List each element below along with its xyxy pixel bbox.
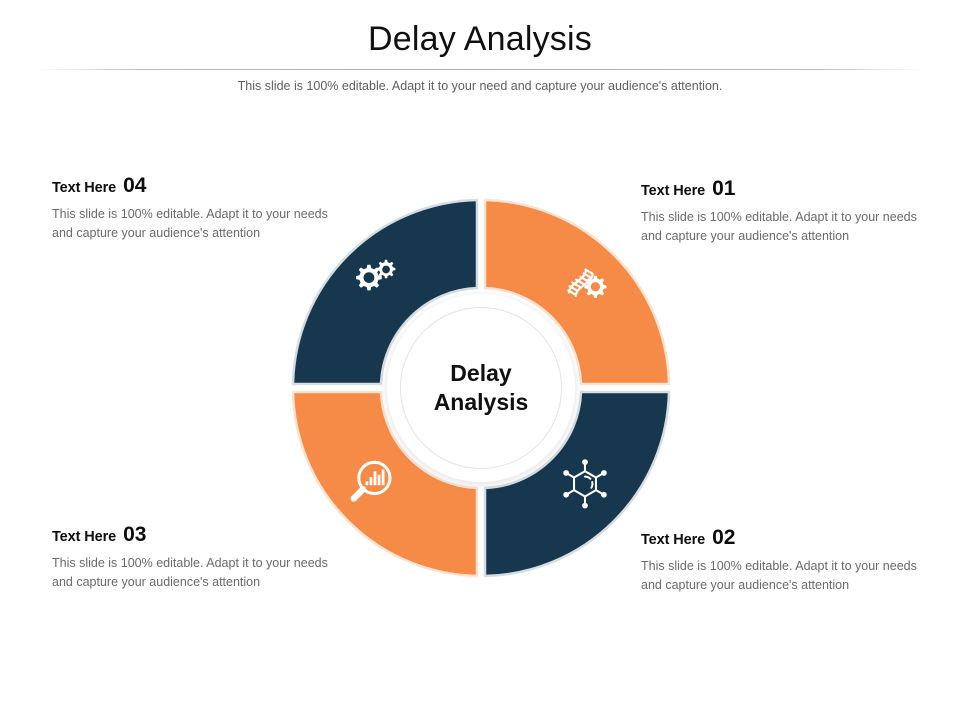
center-hub: Delay Analysis <box>387 294 575 482</box>
segment-number-04: 04 <box>123 175 146 196</box>
page-title: Delay Analysis <box>0 20 960 59</box>
slide-canvas: Delay Analysis This slide is 100% editab… <box>0 0 960 720</box>
segment-text-04: Text Here 04 This slide is 100% editable… <box>52 175 330 244</box>
segment-number-02: 02 <box>712 527 735 548</box>
page-subtitle: This slide is 100% editable. Adapt it to… <box>0 79 960 93</box>
center-hub-ring: Delay Analysis <box>400 307 562 469</box>
segment-text-02: Text Here 02 This slide is 100% editable… <box>641 527 919 596</box>
segment-heading-04: Text Here 04 <box>52 175 330 196</box>
segment-number-01: 01 <box>712 178 735 199</box>
title-divider <box>36 69 924 70</box>
segment-label-04: Text Here <box>52 180 116 196</box>
segment-body-03: This slide is 100% editable. Adapt it to… <box>52 554 330 593</box>
segment-text-01: Text Here 01 This slide is 100% editable… <box>641 178 919 247</box>
segment-text-03: Text Here 03 This slide is 100% editable… <box>52 524 330 593</box>
segment-heading-02: Text Here 02 <box>641 527 919 548</box>
center-label: Delay Analysis <box>434 359 529 417</box>
segment-label-02: Text Here <box>641 532 705 548</box>
segment-body-02: This slide is 100% editable. Adapt it to… <box>641 557 919 596</box>
segment-heading-03: Text Here 03 <box>52 524 330 545</box>
segment-number-03: 03 <box>123 524 146 545</box>
segment-heading-01: Text Here 01 <box>641 178 919 199</box>
segment-body-04: This slide is 100% editable. Adapt it to… <box>52 205 330 244</box>
segment-body-01: This slide is 100% editable. Adapt it to… <box>641 208 919 247</box>
segment-label-01: Text Here <box>641 183 705 199</box>
segment-label-03: Text Here <box>52 529 116 545</box>
donut-diagram: Delay Analysis <box>290 197 672 579</box>
